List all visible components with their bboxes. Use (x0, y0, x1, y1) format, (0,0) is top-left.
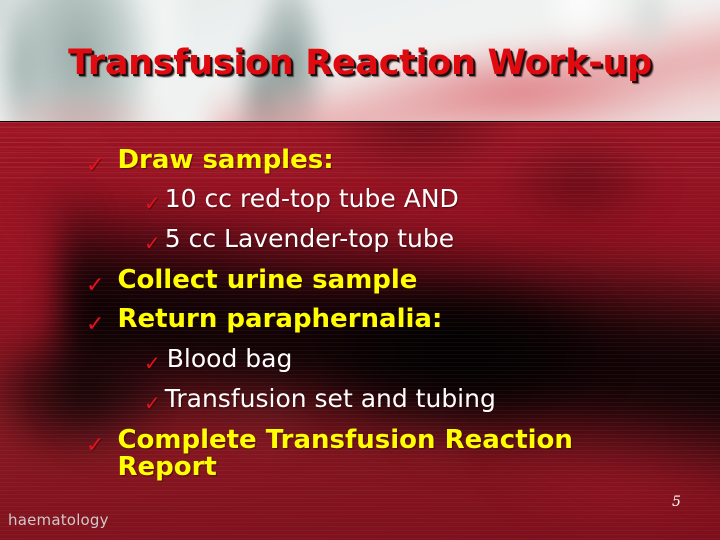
bullet-label: Return paraphernalia: (117, 306, 442, 333)
bullet-label: 10 cc red-top tube AND (165, 186, 459, 212)
presentation-slide: Transfusion Reaction Work-up ✓ Draw samp… (0, 0, 720, 540)
slide-title: Transfusion Reaction Work-up (0, 43, 720, 83)
check-icon: ✓ (144, 346, 161, 373)
bullet-item: ✓ 10 cc red-top tube AND (144, 186, 704, 213)
bullet-item: ✓ Transfusion set and tubing (144, 386, 704, 413)
bullet-label: Complete Transfusion Reaction Report (117, 427, 617, 481)
bullet-item: ✓ Collect urine sample (86, 267, 686, 297)
bullet-label: Collect urine sample (117, 267, 417, 294)
check-icon: ✓ (86, 427, 104, 457)
slide-body-content: ✓ Draw samples: ✓ 10 cc red-top tube AND… (0, 122, 720, 540)
slide-number: 5 (672, 494, 681, 510)
check-icon: ✓ (144, 226, 161, 253)
bullet-item: ✓ Return paraphernalia: (86, 306, 686, 336)
bullet-label: Transfusion set and tubing (165, 386, 496, 412)
bullet-item: ✓ Draw samples: (86, 147, 686, 177)
check-icon: ✓ (144, 386, 161, 413)
bullet-item: ✓ Blood bag (144, 346, 704, 373)
bullet-label: Blood bag (167, 346, 293, 372)
bullet-item: ✓ 5 cc Lavender-top tube (144, 226, 704, 253)
bullet-label: Draw samples: (117, 147, 333, 174)
check-icon: ✓ (86, 267, 104, 297)
check-icon: ✓ (144, 186, 161, 213)
check-icon: ✓ (86, 147, 104, 177)
bullet-item: ✓ Complete Transfusion Reaction Report (86, 427, 632, 481)
slide-footer-label: haematology (8, 511, 109, 529)
check-icon: ✓ (86, 306, 104, 336)
bullet-label: 5 cc Lavender-top tube (165, 226, 454, 252)
